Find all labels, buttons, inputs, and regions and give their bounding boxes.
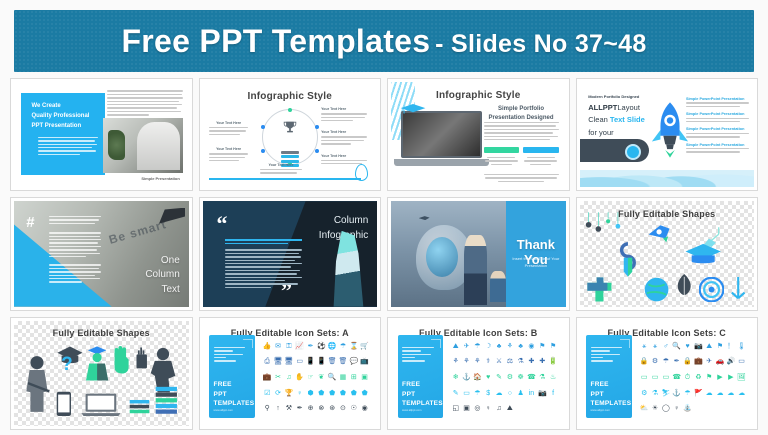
subtitle: Insert the Sub Title of Your Presentatio… xyxy=(511,256,560,270)
slide-title: Infographic Style xyxy=(203,91,378,102)
feature-list: Simple PowerPoint Presentation Simple Po… xyxy=(686,97,749,158)
icon-cell: 💬 xyxy=(349,358,358,365)
icon-cell: ✎ xyxy=(496,374,502,381)
question-mark-icon: ? xyxy=(61,354,77,376)
icon-cell: 💼 xyxy=(694,358,703,365)
icon-cell: ⬟ xyxy=(351,390,357,397)
icon-cell: ⚙ xyxy=(641,390,647,397)
slide-thumb-37[interactable]: We Create Quality Professional PPT Prese… xyxy=(10,78,193,191)
icon-cell: ⚑ xyxy=(706,374,712,381)
icon-cell: ⚕ xyxy=(486,358,490,365)
icon-cell: ✒ xyxy=(308,343,314,350)
card-brand: FREE PPT TEMPLATES xyxy=(591,380,632,408)
icon-cell: ♀ xyxy=(674,405,679,412)
icon-cell: 🚗 xyxy=(716,358,725,365)
icon-cell: ◉ xyxy=(528,343,534,350)
icon-cell: ♣ xyxy=(497,343,502,350)
icon-cell: ⚲ xyxy=(265,405,270,412)
icon-cell: ✒ xyxy=(674,358,680,365)
icon-cell: ✈ xyxy=(464,343,470,350)
icon-cell: ⚓ xyxy=(462,374,471,381)
slide-thumb-45[interactable]: Fully Editable Shapes ? xyxy=(10,317,193,430)
icon-cell: 🔊 xyxy=(726,358,735,365)
icon-cell: ☀ xyxy=(652,405,658,412)
icon-cell: ☞ xyxy=(307,374,313,381)
slide-thumb-38[interactable]: Infographic Style Your Tex xyxy=(199,78,382,191)
icon-cell: ✎ xyxy=(453,390,459,397)
icon-cell: ▭ xyxy=(652,374,659,381)
icon-cell: ♫ xyxy=(286,374,291,381)
slide-thumb-46[interactable]: Fully Editable Icon Sets: A FREE PPT TEM… xyxy=(199,317,382,430)
icon-cell: ⊛ xyxy=(329,405,335,412)
icon-cell: ⛲ xyxy=(683,405,692,412)
globe-icon xyxy=(644,277,669,302)
card-lines xyxy=(591,347,623,362)
icon-cell: ⬟ xyxy=(329,390,335,397)
icon-cell: ⊕ xyxy=(308,405,314,412)
icon-cell: ☂ xyxy=(684,390,690,397)
icon-cell: ⚑ xyxy=(539,343,545,350)
icon-cell: ⚽ xyxy=(317,343,326,350)
icon-cell: 🚩 xyxy=(694,390,703,397)
icon-cell: ▭ xyxy=(663,374,670,381)
icon-cell: f xyxy=(552,390,554,397)
icon-cell: 🌐 xyxy=(328,343,337,350)
slide-canvas: Modern Portfolio Designed ALLPPTLayout C… xyxy=(580,82,755,187)
card-url: www.allppt.com xyxy=(402,408,421,412)
icon-cell: ♥ xyxy=(685,343,689,350)
icon-cell: 🏠 xyxy=(473,374,482,381)
icon-grid: ⛰✈☂☽♣⚘♣◉⚑⚑⚘⚘⚘⚕⚔⚖⚗✚✚🔋❄⚓🏠♥✎⚙☸☎⚗♨✎▭☂$☁○♟in📷… xyxy=(450,339,558,417)
icon-cell: ♣ xyxy=(518,343,523,350)
icon-cell: ▶ xyxy=(717,374,722,381)
slide-canvas: Infographic Style Simple Portfolio Prese… xyxy=(391,82,566,187)
icon-cell: ▣ xyxy=(463,405,470,412)
slide-thumb-40[interactable]: Modern Portfolio Designed ALLPPTLayout C… xyxy=(576,78,759,191)
icon-cell: ☁ xyxy=(727,390,734,397)
slide-canvas: Fully Editable Icon Sets: B FREE PPT TEM… xyxy=(391,321,566,426)
icon-cell: ⊗ xyxy=(318,405,324,412)
location-pin-icon xyxy=(355,164,368,181)
person-with-cap-icon xyxy=(84,335,110,392)
photo-woman-plant xyxy=(103,118,183,173)
person-pointing-icon xyxy=(23,345,51,423)
icon-cell: ♻ xyxy=(695,374,701,381)
icon-cell: ♟ xyxy=(518,390,524,397)
label-left-bottom: Your Text Here xyxy=(209,147,247,161)
shape-row xyxy=(583,258,751,302)
books-tall-stack-icon xyxy=(155,381,178,421)
quote-open-icon: “ xyxy=(216,216,227,231)
card-brand: FREE PPT TEMPLATES xyxy=(402,380,443,408)
icon-cell: ⛷ xyxy=(661,390,670,397)
icon-cell: ⚙ xyxy=(507,374,513,381)
icon-cell: ⚓ xyxy=(672,390,681,397)
slide-canvas: Infographic Style Your Tex xyxy=(203,82,378,187)
title-line-1: We Create xyxy=(31,101,89,111)
icon-cell: ✉ xyxy=(275,343,281,350)
bottom-accent-bar xyxy=(209,178,361,180)
icon-cell: ↑ xyxy=(276,405,280,412)
target-icon xyxy=(699,277,724,302)
feature-item: Simple PowerPoint Presentation xyxy=(686,97,749,107)
slide-canvas: Fully Editable Shapes xyxy=(580,201,755,306)
icon-cell: ⛰ xyxy=(453,343,459,350)
icon-cell: 📷 xyxy=(694,343,703,350)
icon-cell: ☂ xyxy=(474,343,480,350)
icon-cell: ⛅ xyxy=(640,405,649,412)
body-lines xyxy=(484,122,559,140)
label-right-mid: Your Text Here xyxy=(321,130,366,144)
rocket-shape-icon xyxy=(646,218,672,250)
footer-lines xyxy=(484,174,559,182)
icon-cell: 🔍 xyxy=(328,374,337,381)
icon-cell: ⬟ xyxy=(362,390,368,397)
banner-title: Free PPT Templates - Slides No 37~48 xyxy=(121,23,646,60)
icon-cell: ✒ xyxy=(297,405,303,412)
card-url: www.allppt.com xyxy=(214,408,233,412)
icon-cell: 📱 xyxy=(306,358,315,365)
slide-thumb-44[interactable]: Fully Editable Shapes xyxy=(576,197,759,310)
slide-thumb-43[interactable]: Thank You Insert the Sub Title of Your P… xyxy=(387,197,570,310)
arrow-icon xyxy=(729,277,747,303)
icon-grid: ⚹⚹♂🔍♥📷⛰⚑！🌡🔒⚙☂✒🔒💼✈🚗🔊▭▭▭▭☎⏱♻⚑▶▶🖼⚙⚗⛷⚓☂🚩☁☁☁☁… xyxy=(639,339,747,417)
trophy-icon xyxy=(283,121,297,136)
icon-cell: ✈ xyxy=(706,358,712,365)
start-button[interactable] xyxy=(625,144,641,160)
title-line-3: PPT Presentation xyxy=(31,121,89,131)
body-text-lines xyxy=(38,137,97,155)
icon-cell: in xyxy=(529,390,534,397)
icon-cell: ☎ xyxy=(672,374,681,381)
cover-card: FREE PPT TEMPLATES www.allppt.com xyxy=(398,335,443,417)
label-right-top: Your Text Here xyxy=(321,107,366,121)
slide-grid: We Create Quality Professional PPT Prese… xyxy=(8,78,760,430)
icon-cell: ⚒ xyxy=(286,405,292,412)
icon-cell: ◉ xyxy=(362,405,368,412)
cta-buttons[interactable] xyxy=(484,147,559,153)
icon-cell: ⚑ xyxy=(717,343,723,350)
slide-canvas: Fully Editable Shapes ? xyxy=(14,321,189,426)
icon-cell: ⎙ xyxy=(264,358,270,365)
banner: Free PPT Templates - Slides No 37~48 xyxy=(14,10,754,72)
icon-cell: ☁ xyxy=(706,390,713,397)
icon-cell: ⚘ xyxy=(453,358,459,365)
title-line-2: Quality Professional xyxy=(31,111,89,121)
icon-cell: ♀ xyxy=(297,390,302,397)
leaf-icon xyxy=(675,274,693,302)
icon-cell: 🔋 xyxy=(549,358,558,365)
icon-cell: ⚗ xyxy=(518,358,524,365)
icon-cell: ○ xyxy=(508,390,512,397)
icon-cell: ✋ xyxy=(295,374,304,381)
slide-thumb-39[interactable]: Infographic Style Simple Portfolio Prese… xyxy=(387,78,570,191)
feature-item: Simple PowerPoint Presentation xyxy=(686,112,749,122)
slide-canvas: We Create Quality Professional PPT Prese… xyxy=(14,82,189,187)
icon-cell: 🖥 xyxy=(284,358,293,365)
icon-cell: ☉ xyxy=(351,405,357,412)
body-lines xyxy=(225,239,302,288)
feature-item: Simple PowerPoint Presentation xyxy=(686,143,749,153)
label-bottom: Your Text Here xyxy=(260,163,302,174)
icon-cell: ⚿ xyxy=(286,343,291,350)
icon-cell: ☽ xyxy=(485,343,491,350)
icon-cell: ⚘ xyxy=(507,343,513,350)
icon-cell: 🔒 xyxy=(683,358,692,365)
icon-cell: ▣ xyxy=(361,374,368,381)
slide-thumb-41[interactable]: Be smart # One xyxy=(10,197,193,310)
icon-cell: ⚹ xyxy=(653,343,657,350)
hand-icon xyxy=(112,338,131,382)
icon-cell: ⚹ xyxy=(642,343,646,350)
icon-cell: ☂ xyxy=(474,390,480,397)
icon-cell: 🖥 xyxy=(274,358,283,365)
slide-canvas: “ ” Column Infographic xyxy=(203,201,378,306)
puzzle-icon xyxy=(586,276,613,303)
icon-cell: ◯ xyxy=(662,405,670,412)
kicker-text: Modern Portfolio Designed xyxy=(588,94,639,99)
right-heading: One Column Text xyxy=(145,254,179,298)
icon-cell: ♫ xyxy=(496,405,501,412)
icon-cell: 📱 xyxy=(317,358,326,365)
card-lines xyxy=(402,347,434,362)
icon-cell: ☑ xyxy=(264,390,270,397)
hash-symbol: # xyxy=(26,215,34,230)
icon-cell: 🗑 xyxy=(328,358,337,365)
slide-thumb-47[interactable]: Fully Editable Icon Sets: B FREE PPT TEM… xyxy=(387,317,570,430)
child-sitting xyxy=(490,271,506,303)
icon-cell: ☂ xyxy=(663,358,669,365)
photo-caption: Simple Presentation xyxy=(141,176,179,181)
banner-title-sub: - Slides No 37~48 xyxy=(435,30,646,58)
icon-cell: ⛰ xyxy=(507,405,513,412)
smartphone-icon xyxy=(56,387,72,421)
icon-cell: ⚖ xyxy=(507,358,513,365)
person-standing xyxy=(464,235,487,305)
icon-cell: ✚ xyxy=(529,358,535,365)
icon-cell: 🛒 xyxy=(360,343,369,350)
slide-canvas: Fully Editable Icon Sets: C FREE PPT TEM… xyxy=(580,321,755,426)
globe-shape xyxy=(426,237,458,277)
icon-cell: ♀ xyxy=(486,405,491,412)
icon-cell: ❦ xyxy=(318,374,324,381)
body-lines xyxy=(49,216,101,283)
icon-cell: ⚗ xyxy=(539,374,545,381)
icon-cell: ☎ xyxy=(527,374,536,381)
icon-cell: ▶ xyxy=(728,374,733,381)
icon-cell: ▭ xyxy=(463,390,470,397)
label-right-bottom: Your Text Here xyxy=(321,154,366,165)
icon-cell: ◎ xyxy=(474,405,480,412)
icon-cell: ☸ xyxy=(518,374,524,381)
icon-cell: ▦ xyxy=(340,374,347,381)
button-download[interactable] xyxy=(523,147,559,153)
icon-cell: ⟳ xyxy=(275,390,281,397)
books-stack-icon xyxy=(129,395,150,420)
icon-cell: ⊙ xyxy=(340,405,346,412)
icon-cell: ⚔ xyxy=(496,358,502,365)
sky-photo xyxy=(391,201,506,306)
button-captions xyxy=(484,157,559,165)
icon-cell: ☁ xyxy=(738,390,745,397)
icon-cell: ▭ xyxy=(296,358,303,365)
icon-cell: ♥ xyxy=(486,374,490,381)
icon-cell: 🌡 xyxy=(737,343,746,350)
icon-cell: ◱ xyxy=(452,405,459,412)
icon-cell: ⚘ xyxy=(474,358,480,365)
icon-cell: ⛰ xyxy=(706,343,712,350)
icon-cell: 🖼 xyxy=(737,374,746,381)
icon-cell: ⚑ xyxy=(550,343,556,350)
icon-cell: ⬟ xyxy=(318,390,324,397)
cover-card: FREE PPT TEMPLATES www.allppt.com xyxy=(209,335,254,417)
icon-cell: ⬟ xyxy=(340,390,346,397)
icon-cell: $ xyxy=(486,390,490,397)
icon-cell: ♨ xyxy=(550,374,556,381)
icon-cell: ❄ xyxy=(453,374,459,381)
slide-canvas: Be smart # One xyxy=(14,201,189,306)
slide-canvas: Fully Editable Icon Sets: A FREE PPT TEM… xyxy=(203,321,378,426)
slide-thumb-42[interactable]: “ ” Column Infographic xyxy=(199,197,382,310)
icon-cell: 🔍 xyxy=(672,343,681,350)
icon-cell: ⚙ xyxy=(652,358,658,365)
icon-cell: 📈 xyxy=(295,343,304,350)
icon-cell: 🔒 xyxy=(640,358,649,365)
slide-canvas: Thank You Insert the Sub Title of Your P… xyxy=(391,201,566,306)
icon-cell: 💼 xyxy=(263,374,272,381)
icon-cell: ☁ xyxy=(716,390,723,397)
button-get-more[interactable] xyxy=(484,147,520,153)
icon-cell: ⏱ xyxy=(685,374,690,381)
icon-cell: ♂ xyxy=(663,343,668,350)
laptop-icon xyxy=(80,389,122,421)
icon-cell: ⬢ xyxy=(307,390,313,397)
icon-cell: 📺 xyxy=(360,358,369,365)
icon-cell: ⊞ xyxy=(351,374,357,381)
icon-cell: ▭ xyxy=(641,374,648,381)
card-lines xyxy=(214,347,246,362)
icon-cell: ✚ xyxy=(539,358,545,365)
slide-title: Infographic Style xyxy=(391,90,566,101)
icon-cell: 📷 xyxy=(538,390,547,397)
graduation-cap-icon xyxy=(398,104,428,115)
icon-cell: ⚘ xyxy=(463,358,469,365)
icon-cell: 🏆 xyxy=(285,390,294,397)
icon-cell: ⌛ xyxy=(349,343,358,350)
cover-card: FREE PPT TEMPLATES www.allppt.com xyxy=(586,335,631,417)
icon-cell: 🗑 xyxy=(339,358,348,365)
icon-grid: 👍✉⚿📈✒⚽🌐☂⌛🛒⎙🖥🖥▭📱📱🗑🗑💬📺💼✂♫✋☞❦🔍▦⊞▣☑⟳🏆♀⬢⬟⬟⬟⬟⬟… xyxy=(262,339,370,417)
icon-cell: 👍 xyxy=(263,343,272,350)
feature-item: Simple PowerPoint Presentation xyxy=(686,127,749,137)
paragraph-lines xyxy=(107,90,184,115)
banner-title-main: Free PPT Templates xyxy=(121,23,430,59)
icon-cell: ☂ xyxy=(340,343,346,350)
subtitle-text: Simple Portfolio Presentation Designed xyxy=(484,105,559,124)
airplane-icon xyxy=(419,216,430,220)
card-brand: FREE PPT TEMPLATES xyxy=(214,380,255,408)
card-url: www.allppt.com xyxy=(591,408,610,412)
icon-cell: ！ xyxy=(727,343,734,350)
label-left-top: Your Text Here xyxy=(209,121,247,135)
title-text: We Create Quality Professional PPT Prese… xyxy=(31,101,89,132)
icon-cell: ▭ xyxy=(738,358,745,365)
ppt-template-preview-page: Free PPT Templates - Slides No 37~48 We … xyxy=(0,0,768,435)
icon-cell: ✂ xyxy=(275,374,281,381)
icon-cell: ⚗ xyxy=(652,390,658,397)
laptop-illustration xyxy=(401,111,481,166)
slide-thumb-48[interactable]: Fully Editable Icon Sets: C FREE PPT TEM… xyxy=(576,317,759,430)
icon-cell: ☁ xyxy=(496,390,503,397)
